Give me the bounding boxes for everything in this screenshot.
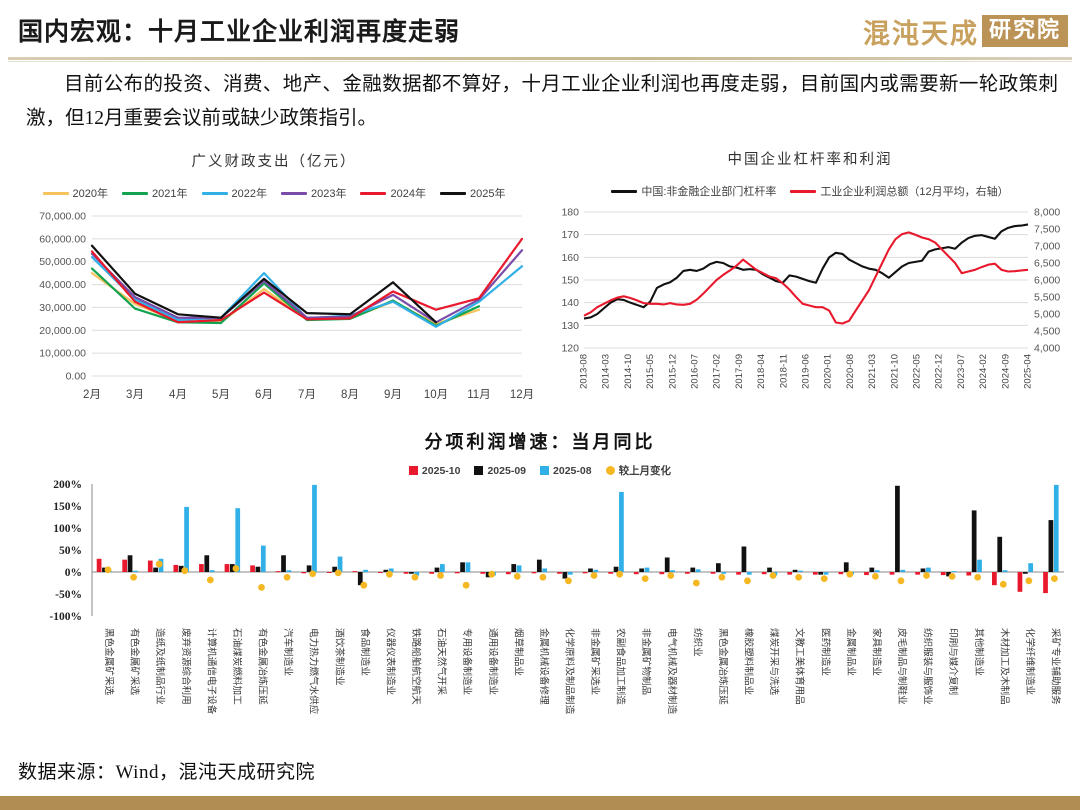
legend-label: 2023年 (311, 185, 346, 201)
chart-profit-growth: 分项利润增速：当月同比 2025-102025-092025-08较上月变化 -… (0, 428, 1080, 738)
bar-2025-09 (895, 486, 900, 572)
scatter-point-较上月变化 (744, 577, 751, 584)
legend-label: 2025-08 (553, 465, 592, 477)
bar-2025-10 (455, 572, 460, 573)
x-axis-category-label: 铁路船舶航空航天 (410, 628, 422, 705)
legend-label: 2020年 (73, 185, 108, 201)
y-axis-tick-label: 20,000.00 (39, 325, 86, 337)
x-axis-tick-label: 2024-09 (1000, 354, 1011, 389)
y-axis-tick-label: 50% (59, 545, 82, 557)
y-axis-tick-label: 200% (53, 480, 82, 491)
bar-2025-08 (952, 571, 957, 572)
bar-2025-08 (1003, 570, 1008, 572)
bar-2025-09 (153, 568, 158, 572)
intro-paragraph: 目前公布的投资、消费、地产、金融数据都不算好，十月工业企业利润也再度走弱，目前国… (26, 68, 1058, 136)
scatter-point-较上月变化 (335, 569, 342, 576)
bar-2025-09 (563, 572, 568, 579)
x-axis-category-label: 石油天然气开采 (436, 628, 448, 696)
bar-2025-09 (460, 562, 465, 572)
scatter-point-较上月变化 (514, 573, 521, 580)
y-axis-tick-label: 30,000.00 (39, 302, 86, 314)
bar-2025-08 (235, 508, 240, 572)
x-axis-category-label: 食品制造业 (359, 628, 371, 676)
x-axis-category-label: 造纸及纸制品行业 (154, 628, 166, 705)
scatter-point-较上月变化 (1025, 577, 1032, 584)
bar-2025-09 (767, 568, 772, 572)
legend-item-2020年: 2020年 (43, 185, 108, 201)
chart-profit-growth-legend: 2025-102025-092025-08较上月变化 (0, 463, 1080, 478)
bar-2025-08 (926, 568, 931, 572)
x-axis-category-label: 其他制造业 (973, 628, 985, 676)
x-axis-tick-label: 2014-03 (601, 354, 612, 389)
x-axis-category-label: 酒饮茶制造业 (333, 628, 345, 686)
bar-2025-08 (977, 560, 982, 572)
x-axis-category-label: 农副食品加工制造 (615, 628, 627, 705)
y-axis-tick-label: 0.00 (66, 371, 87, 383)
legend-label: 中国:非金融企业部门杠杆率 (641, 183, 776, 199)
legend-item-2025-09: 2025-09 (474, 465, 526, 477)
scatter-point-较上月变化 (130, 574, 137, 581)
scatter-point-较上月变化 (156, 561, 163, 568)
x-axis-tick-label: 2014-10 (623, 354, 634, 389)
x-axis-tick-label: 11月 (467, 389, 490, 401)
y-axis-tick-label: 70,000.00 (39, 211, 86, 223)
y-axis-tick-label: 100% (53, 523, 82, 535)
bar-2025-10 (787, 572, 792, 575)
y-axis-tick-label: 120 (561, 343, 579, 355)
x-axis-category-label: 金属机械设备修理 (538, 628, 550, 705)
x-axis-category-label: 专用设备制造业 (461, 628, 473, 696)
bar-2025-08 (363, 570, 368, 572)
y2-axis-tick-label: 4,000 (1034, 343, 1060, 355)
bar-2025-10 (327, 572, 332, 573)
x-axis-category-label: 废弃资源综合利用 (180, 628, 192, 705)
legend-swatch-icon (790, 190, 816, 193)
x-axis-tick-label: 6月 (255, 389, 273, 401)
x-axis-tick-label: 2月 (83, 389, 101, 401)
bar-2025-09 (921, 568, 926, 572)
bar-2025-10 (941, 572, 946, 575)
bar-2025-09 (204, 555, 209, 572)
legend-label: 2025-10 (422, 465, 461, 477)
y-axis-tick-label: 160 (561, 252, 579, 264)
bar-2025-08 (900, 570, 905, 572)
bar-2025-10 (762, 572, 767, 574)
x-axis-category-label: 烟草制品业 (512, 628, 524, 676)
scatter-point-较上月变化 (258, 584, 265, 591)
bar-2025-09 (1023, 572, 1028, 574)
bar-2025-10 (225, 564, 230, 572)
legend-swatch-icon (202, 192, 228, 195)
bar-2025-08 (619, 492, 624, 572)
y-axis-tick-label: 150 (561, 275, 579, 287)
x-axis-category-label: 金属制品业 (845, 628, 857, 676)
scatter-point-较上月变化 (463, 582, 470, 589)
bar-2025-09 (742, 546, 747, 572)
x-axis-tick-label: 5月 (212, 389, 230, 401)
scatter-point-较上月变化 (105, 566, 112, 573)
x-axis-tick-label: 2021-10 (889, 354, 900, 389)
y2-axis-tick-label: 6,500 (1034, 258, 1060, 270)
bar-2025-09 (818, 572, 823, 575)
x-axis-tick-label: 2025-04 (1023, 354, 1034, 389)
x-axis-category-label: 电力热力燃气水供应 (308, 628, 320, 715)
legend-item-2025-10: 2025-10 (409, 465, 461, 477)
legend-swatch-icon (611, 190, 637, 193)
bar-2025-10 (915, 572, 920, 575)
x-axis-tick-label: 10月 (424, 389, 448, 401)
x-axis-category-label: 印刷与媒介复制 (947, 628, 959, 695)
y2-axis-tick-label: 7,500 (1034, 224, 1060, 236)
scatter-point-较上月变化 (795, 574, 802, 581)
bar-2025-08 (133, 571, 138, 572)
x-axis-tick-label: 2020-01 (823, 354, 834, 389)
bar-2025-09 (614, 567, 619, 572)
scatter-point-较上月变化 (412, 574, 419, 581)
bar-2025-09 (256, 567, 261, 572)
x-axis-category-label: 纺织业 (691, 628, 703, 657)
chart-fiscal-plot: 0.0010,000.0020,000.0030,000.0040,000.00… (14, 210, 534, 410)
bar-2025-09 (281, 555, 286, 572)
scatter-point-较上月变化 (1000, 581, 1007, 588)
bar-2025-09 (844, 562, 849, 572)
legend-swatch-icon (281, 192, 307, 195)
legend-item-2021年: 2021年 (122, 185, 187, 201)
y2-axis-tick-label: 8,000 (1034, 207, 1060, 219)
bar-2025-09 (511, 564, 516, 572)
bar-2025-10 (1018, 572, 1023, 592)
bar-2025-08 (261, 546, 266, 572)
bar-2025-10 (429, 572, 434, 574)
bar-2025-10 (839, 572, 844, 574)
y2-axis-tick-label: 5,500 (1034, 292, 1060, 304)
bar-2025-10 (480, 572, 485, 574)
series-line-工业企业利润总额（12月平均，右轴） (584, 232, 1028, 323)
bar-2025-08 (466, 562, 471, 572)
scatter-point-较上月变化 (207, 577, 214, 584)
legend-label: 2024年 (390, 185, 425, 201)
x-axis-tick-label: 12月 (510, 389, 534, 401)
bar-2025-10 (173, 565, 178, 572)
bar-2025-10 (992, 572, 997, 585)
bar-2025-09 (997, 537, 1002, 572)
x-axis-category-label: 通用设备制造业 (487, 628, 499, 696)
bar-2025-08 (210, 570, 215, 572)
bar-2025-08 (670, 570, 675, 572)
y-axis-tick-label: 0% (65, 567, 82, 579)
x-axis-tick-label: 2018-11 (778, 354, 789, 388)
x-axis-category-label: 化学纤维制造业 (1024, 628, 1036, 696)
scatter-point-较上月变化 (642, 575, 649, 582)
x-axis-category-label: 有色金属矿采选 (129, 628, 141, 696)
bar-2025-10 (966, 572, 971, 576)
scatter-point-较上月变化 (591, 572, 598, 579)
x-axis-category-label: 木材加工及木制品 (998, 628, 1010, 705)
x-axis-tick-label: 2022-05 (912, 354, 923, 389)
y2-axis-tick-label: 6,000 (1034, 275, 1060, 287)
scatter-point-较上月变化 (360, 582, 367, 589)
legend-item-工业企业利润总额（12月平均，右轴）: 工业企业利润总额（12月平均，右轴） (790, 183, 1008, 199)
x-axis-category-label: 采矿专业辅助服务 (1050, 628, 1062, 705)
chart-profit-growth-title: 分项利润增速：当月同比 (0, 428, 1080, 454)
x-axis-category-label: 石油煤炭燃料加工 (231, 628, 243, 705)
bar-2025-10 (890, 572, 895, 575)
x-axis-tick-label: 2022-12 (934, 354, 945, 389)
chart-leverage-plot: 1201301401501601701804,0004,5005,0005,50… (548, 206, 1072, 410)
chart-leverage-profit: 中国企业杠杆率和利润 中国:非金融企业部门杠杆率工业企业利润总额（12月平均，右… (548, 148, 1072, 410)
x-axis-tick-label: 2017-09 (734, 354, 745, 389)
bar-2025-08 (696, 569, 701, 572)
chart-leverage-legend: 中国:非金融企业部门杠杆率工业企业利润总额（12月平均，右轴） (548, 183, 1072, 199)
page-title: 国内宏观：十月工业企业利润再度走弱 (18, 12, 460, 48)
bar-2025-08 (798, 571, 803, 572)
y-axis-tick-label: 150% (53, 501, 82, 513)
scatter-point-较上月变化 (437, 572, 444, 579)
scatter-point-较上月变化 (565, 577, 572, 584)
bar-2025-09 (869, 568, 874, 572)
bar-2025-10 (864, 572, 869, 575)
legend-item-较上月变化: 较上月变化 (606, 463, 672, 478)
scatter-point-较上月变化 (233, 565, 240, 572)
legend-swatch-icon (360, 192, 386, 195)
scatter-point-较上月变化 (770, 572, 777, 579)
x-axis-tick-label: 8月 (341, 389, 359, 401)
x-axis-category-label: 化学原料及制品制造 (564, 628, 576, 715)
brand-logo: 混沌天成 研究院 (863, 10, 1068, 52)
y-axis-tick-label: 40,000.00 (39, 279, 86, 291)
y-axis-tick-label: 10,000.00 (39, 348, 86, 360)
x-axis-tick-label: 4月 (169, 389, 187, 401)
slide-root: 国内宏观：十月工业企业利润再度走弱 混沌天成 研究院 目前公布的投资、消费、地产… (0, 0, 1080, 810)
bar-2025-08 (593, 570, 598, 572)
scatter-point-较上月变化 (309, 570, 316, 577)
y2-axis-tick-label: 7,000 (1034, 241, 1060, 253)
bar-2025-08 (1054, 485, 1059, 572)
bar-2025-10 (685, 572, 690, 574)
bar-2025-08 (287, 570, 292, 572)
x-axis-category-label: 纺织服装与服饰业 (922, 628, 934, 705)
bar-2025-10 (506, 572, 511, 574)
y-axis-tick-label: 180 (561, 207, 579, 219)
x-axis-tick-label: 2015-05 (645, 354, 656, 389)
legend-swatch-icon (540, 466, 549, 475)
scatter-point-较上月变化 (821, 575, 828, 582)
scatter-point-较上月变化 (693, 580, 700, 587)
bar-2025-08 (645, 568, 650, 572)
logo-text: 混沌天成 (863, 12, 979, 51)
scatter-point-较上月变化 (667, 572, 674, 579)
y-axis-tick-label: -100% (49, 611, 82, 623)
bar-2025-10 (122, 560, 127, 572)
logo-badge: 研究院 (982, 15, 1068, 46)
bar-2025-10 (634, 572, 639, 574)
scatter-point-较上月变化 (719, 574, 726, 581)
legend-label: 2025-09 (487, 465, 526, 477)
bar-2025-10 (404, 572, 409, 574)
scatter-point-较上月变化 (872, 573, 879, 580)
chart-leverage-svg: 1201301401501601701804,0004,5005,0005,50… (548, 206, 1072, 410)
x-axis-tick-label: 7月 (298, 389, 316, 401)
x-axis-category-label: 非金属矿物制品 (640, 628, 652, 695)
y2-axis-tick-label: 5,000 (1034, 309, 1060, 321)
y-axis-tick-label: 140 (561, 297, 579, 309)
chart-fiscal-title: 广义财政支出（亿元） (14, 150, 534, 171)
bar-2025-10 (813, 572, 818, 575)
legend-swatch-icon (43, 192, 69, 195)
bar-2025-10 (353, 571, 358, 572)
x-axis-category-label: 家具制造业 (870, 628, 882, 676)
legend-label: 较上月变化 (619, 463, 672, 478)
bar-2025-10 (97, 559, 102, 572)
y2-axis-tick-label: 4,500 (1034, 326, 1060, 338)
x-axis-category-label: 计算机通信电子设备 (205, 628, 217, 715)
y-axis-tick-label: 130 (561, 320, 579, 332)
bar-2025-08 (568, 572, 573, 575)
x-axis-tick-label: 3月 (126, 389, 144, 401)
bar-2025-09 (690, 568, 695, 572)
legend-swatch-icon (474, 466, 483, 475)
scatter-point-较上月变化 (846, 571, 853, 578)
chart-profit-growth-svg: -100%-50%0%50%100%150%200%黑色金属矿采选有色金属矿采选… (0, 480, 1080, 738)
bar-2025-10 (148, 561, 153, 572)
x-axis-category-label: 医药制造业 (819, 628, 831, 676)
bar-2025-08 (542, 568, 547, 572)
bar-2025-10 (583, 572, 588, 573)
slide-header: 国内宏观：十月工业企业利润再度走弱 混沌天成 研究院 (0, 0, 1080, 58)
legend-item-中国:非金融企业部门杠杆率: 中国:非金融企业部门杠杆率 (611, 183, 776, 199)
chart-leverage-title: 中国企业杠杆率和利润 (548, 148, 1072, 169)
scatter-point-较上月变化 (949, 573, 956, 580)
bar-2025-10 (711, 572, 716, 574)
x-axis-category-label: 仪器仪表制造业 (384, 628, 396, 696)
y-axis-tick-label: 170 (561, 229, 579, 241)
scatter-point-较上月变化 (284, 574, 291, 581)
scatter-point-较上月变化 (488, 571, 495, 578)
legend-label: 2022年 (232, 185, 267, 201)
x-axis-tick-label: 2023-07 (956, 354, 967, 389)
x-axis-tick-label: 2019-06 (801, 354, 812, 389)
scatter-point-较上月变化 (923, 572, 930, 579)
bar-2025-10 (659, 572, 664, 574)
bar-2025-08 (312, 485, 317, 572)
bar-2025-10 (532, 572, 537, 573)
header-divider (8, 57, 1072, 60)
x-axis-tick-label: 2021-03 (867, 354, 878, 389)
legend-label: 2021年 (152, 185, 187, 201)
y-axis-tick-label: -50% (55, 589, 82, 601)
x-axis-tick-label: 2018-04 (756, 354, 767, 389)
scatter-point-较上月变化 (386, 571, 393, 578)
bar-2025-10 (608, 572, 613, 574)
y-axis-tick-label: 60,000.00 (39, 233, 86, 245)
legend-swatch-icon (440, 192, 466, 195)
bar-2025-09 (588, 568, 593, 572)
scatter-point-较上月变化 (974, 574, 981, 581)
chart-fiscal-legend: 2020年2021年2022年2023年2024年2025年 (14, 185, 534, 201)
chart-fiscal-expenditure: 广义财政支出（亿元） 2020年2021年2022年2023年2024年2025… (14, 148, 534, 410)
x-axis-category-label: 非金属矿采选业 (589, 628, 601, 696)
chart-profit-growth-plot: -100%-50%0%50%100%150%200%黑色金属矿采选有色金属矿采选… (0, 480, 1080, 738)
footer-bar (0, 796, 1080, 810)
x-axis-category-label: 有色金属冶炼压延 (257, 628, 269, 705)
bar-2025-08 (721, 572, 726, 574)
legend-item-2023年: 2023年 (281, 185, 346, 201)
bar-2025-08 (184, 507, 189, 572)
x-axis-category-label: 黑色金属矿采选 (103, 628, 115, 696)
x-axis-tick-label: 2020-08 (845, 354, 856, 389)
legend-swatch-icon (122, 192, 148, 195)
legend-label: 2025年 (470, 185, 505, 201)
x-axis-category-label: 橡胶塑料制品业 (743, 628, 755, 696)
x-axis-tick-label: 2016-07 (690, 354, 701, 389)
bar-2025-09 (537, 560, 542, 572)
bar-2025-10 (378, 572, 383, 573)
bar-2025-10 (557, 572, 562, 574)
x-axis-category-label: 文教工美体育用品 (794, 628, 806, 705)
x-axis-tick-label: 9月 (384, 389, 402, 401)
x-axis-category-label: 煤炭开采与洗选 (768, 628, 780, 696)
bar-2025-08 (1028, 563, 1033, 572)
bar-2025-10 (276, 571, 281, 572)
bar-2025-08 (440, 564, 445, 572)
x-axis-category-label: 汽车制造业 (282, 628, 294, 676)
bar-2025-09 (1049, 520, 1054, 572)
legend-item-2022年: 2022年 (202, 185, 267, 201)
legend-item-2025年: 2025年 (440, 185, 505, 201)
bar-2025-09 (639, 568, 644, 572)
legend-label: 工业企业利润总额（12月平均，右轴） (820, 183, 1008, 199)
bar-2025-10 (1043, 572, 1048, 593)
x-axis-category-label: 电气机械及器材制造 (666, 628, 678, 715)
bar-2025-09 (435, 568, 440, 572)
bar-2025-09 (665, 557, 670, 572)
legend-swatch-icon (606, 466, 615, 475)
bar-2025-09 (793, 570, 798, 572)
legend-swatch-icon (409, 466, 418, 475)
scatter-point-较上月变化 (898, 577, 905, 584)
x-axis-category-label: 黑色金属冶炼压延 (717, 628, 729, 705)
bar-2025-08 (517, 565, 522, 572)
x-axis-tick-label: 2013-08 (579, 354, 590, 389)
y-axis-tick-label: 50,000.00 (39, 256, 86, 268)
scatter-point-较上月变化 (181, 567, 188, 574)
bar-2025-08 (747, 572, 752, 575)
legend-item-2024年: 2024年 (360, 185, 425, 201)
chart-fiscal-svg: 0.0010,000.0020,000.0030,000.0040,000.00… (14, 210, 534, 410)
x-axis-tick-label: 2015-12 (667, 354, 678, 389)
legend-item-2025-08: 2025-08 (540, 465, 592, 477)
source-note: 数据来源：Wind，混沌天成研究院 (18, 757, 315, 784)
bar-2025-10 (250, 565, 255, 572)
bar-2025-08 (824, 572, 829, 575)
x-axis-category-label: 皮毛制品与制鞋业 (896, 628, 908, 705)
bar-2025-08 (875, 570, 880, 572)
x-axis-tick-label: 2017-02 (712, 354, 723, 389)
bar-2025-09 (972, 510, 977, 572)
bar-2025-09 (409, 572, 414, 574)
header-divider-thin (8, 61, 1072, 62)
bar-2025-09 (128, 555, 133, 572)
scatter-point-较上月变化 (1051, 575, 1058, 582)
scatter-point-较上月变化 (539, 574, 546, 581)
bar-2025-10 (301, 572, 306, 573)
bar-2025-10 (199, 564, 204, 572)
scatter-point-较上月变化 (616, 571, 623, 578)
bar-2025-09 (716, 563, 721, 572)
bar-2025-10 (736, 572, 741, 575)
x-axis-tick-label: 2024-02 (978, 354, 989, 389)
